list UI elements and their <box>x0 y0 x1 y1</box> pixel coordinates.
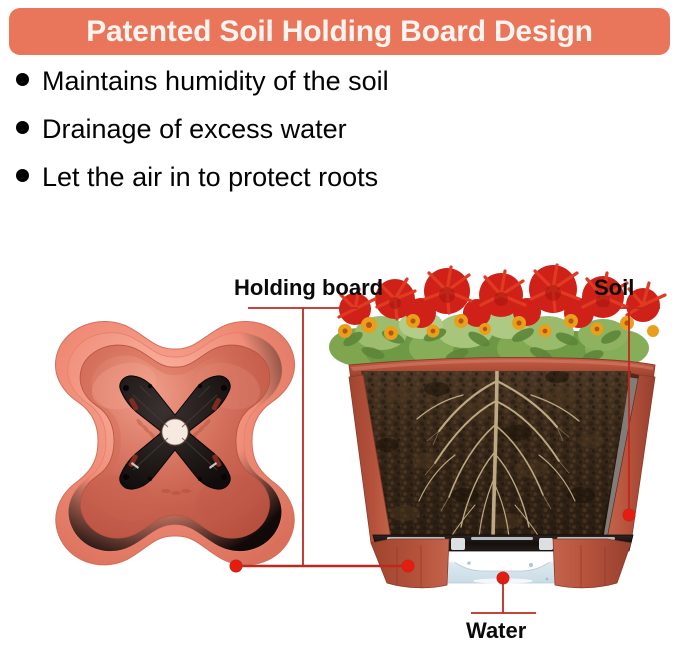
list-item: Drainage of excess water <box>16 116 656 164</box>
list-item: Maintains humidity of the soil <box>16 68 656 116</box>
callout-label-water: Water <box>466 620 526 642</box>
bullet-point-icon <box>16 73 29 86</box>
header-banner: Patented Soil Holding Board Design <box>9 8 670 55</box>
leader-dot-soil <box>623 509 635 521</box>
bullet-point-icon <box>16 121 29 134</box>
planter-foot-right <box>553 539 631 588</box>
product-diagram: Holding board Soil Water <box>0 255 679 652</box>
callout-label-soil: Soil <box>594 277 634 299</box>
soil-body <box>355 367 645 547</box>
list-item-label: Maintains humidity of the soil <box>42 68 389 95</box>
leader-dot-holding-board-left <box>230 560 242 572</box>
feature-list: Maintains humidity of the soil Drainage … <box>16 68 656 212</box>
cross-section-planter <box>329 265 665 588</box>
bullet-point-icon <box>16 169 29 182</box>
list-item: Let the air in to protect roots <box>16 164 656 212</box>
page-title: Patented Soil Holding Board Design <box>86 17 593 47</box>
list-item-label: Let the air in to protect roots <box>42 164 378 191</box>
top-view-planter <box>55 321 294 564</box>
diagram-illustration <box>0 255 679 652</box>
leader-dot-holding-board-right <box>402 560 414 572</box>
list-item-label: Drainage of excess water <box>42 116 347 143</box>
callout-label-holding-board: Holding board <box>234 277 383 299</box>
